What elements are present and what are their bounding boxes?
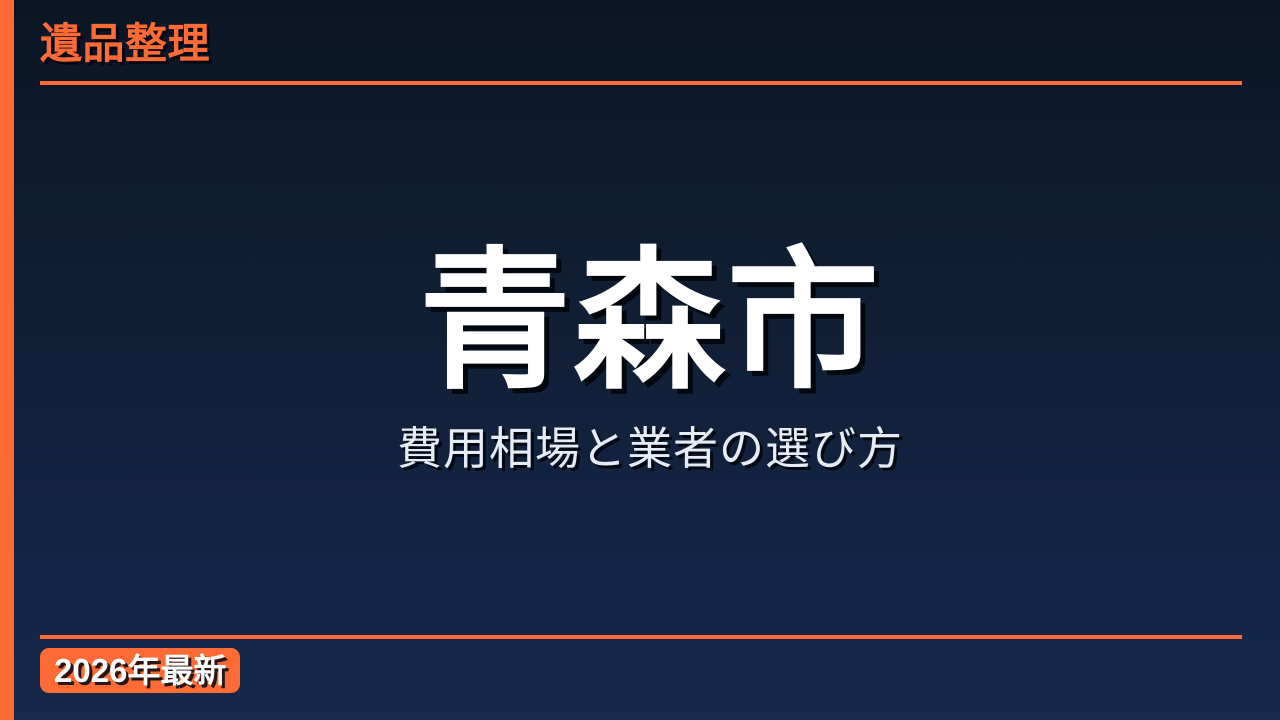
left-accent-bar — [0, 0, 14, 720]
footer-divider-rule — [40, 635, 1242, 639]
page-title: 青森市 — [413, 246, 881, 398]
year-badge: 2026年最新 — [40, 648, 240, 693]
page-subtitle: 費用相場と業者の選び方 — [391, 424, 903, 474]
main-content-block: 青森市 費用相場と業者の選び方 — [14, 0, 1280, 720]
title-slide: 遺品整理 青森市 費用相場と業者の選び方 2026年最新 — [0, 0, 1280, 720]
year-badge-label: 2026年最新 — [54, 654, 226, 687]
